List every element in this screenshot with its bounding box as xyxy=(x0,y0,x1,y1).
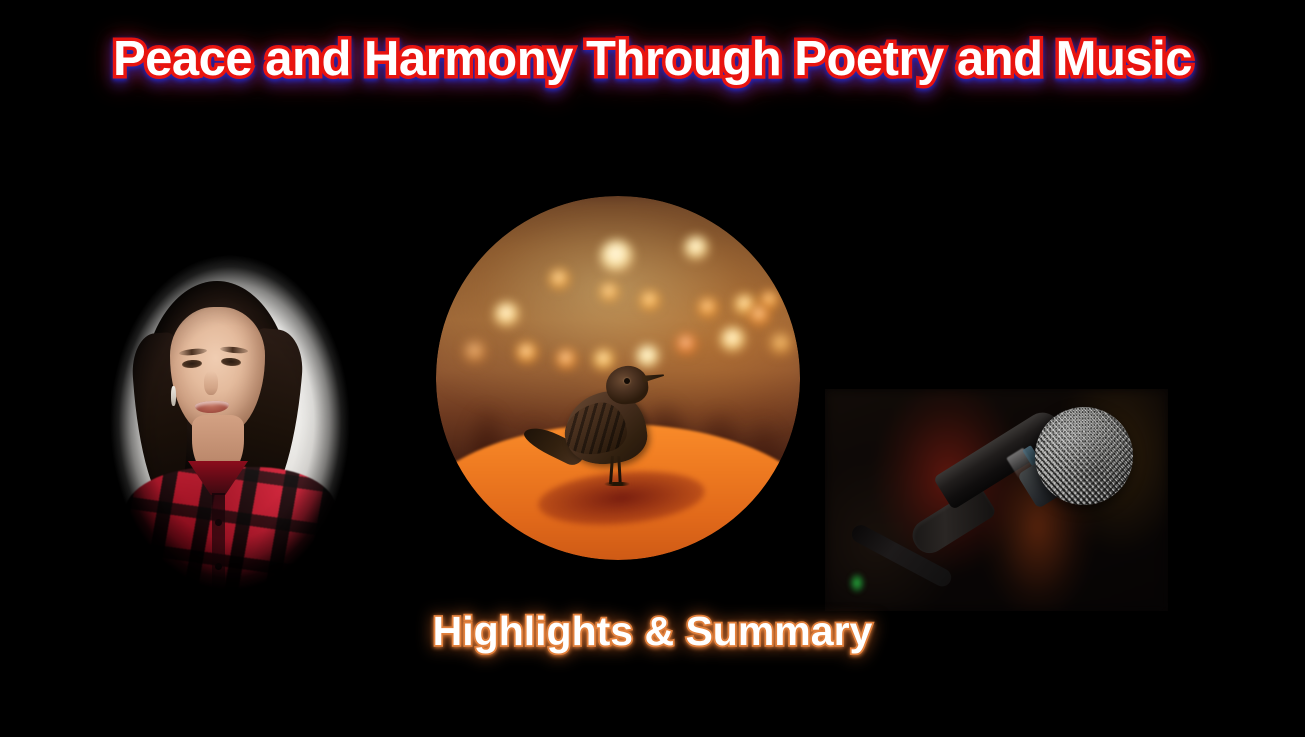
bokeh-light xyxy=(698,298,718,318)
portrait-shirt-placket xyxy=(212,493,225,590)
bokeh-light xyxy=(640,291,660,311)
bird-leg xyxy=(609,456,614,484)
portrait-shirt-button xyxy=(215,563,222,570)
slide-canvas: Peace and Harmony Through Poetry and Mus… xyxy=(0,0,1305,737)
microphone-green-light xyxy=(849,573,865,593)
bokeh-light xyxy=(600,240,634,274)
slide-subtitle: Highlights & Summary xyxy=(0,608,1305,655)
speaker-portrait-image xyxy=(100,255,355,590)
bird-figure xyxy=(548,356,660,486)
bird-feet xyxy=(604,482,630,486)
bird-circle-photo xyxy=(428,188,808,568)
microphone-photo xyxy=(825,389,1168,611)
bird-eye xyxy=(624,378,630,384)
portrait-earring xyxy=(171,386,176,406)
portrait-nose xyxy=(204,371,218,395)
bokeh-light xyxy=(549,269,570,290)
speaker-portrait xyxy=(100,255,355,590)
microphone-grille-head xyxy=(1035,407,1133,505)
bird-circle-image xyxy=(436,196,800,560)
microphone-mesh-pattern xyxy=(1035,407,1133,505)
slide-title: Peace and Harmony Through Poetry and Mus… xyxy=(0,34,1305,85)
bokeh-light xyxy=(494,302,520,328)
portrait-shirt-button xyxy=(215,519,222,526)
bird-head xyxy=(604,364,650,406)
bokeh-light xyxy=(684,236,709,261)
